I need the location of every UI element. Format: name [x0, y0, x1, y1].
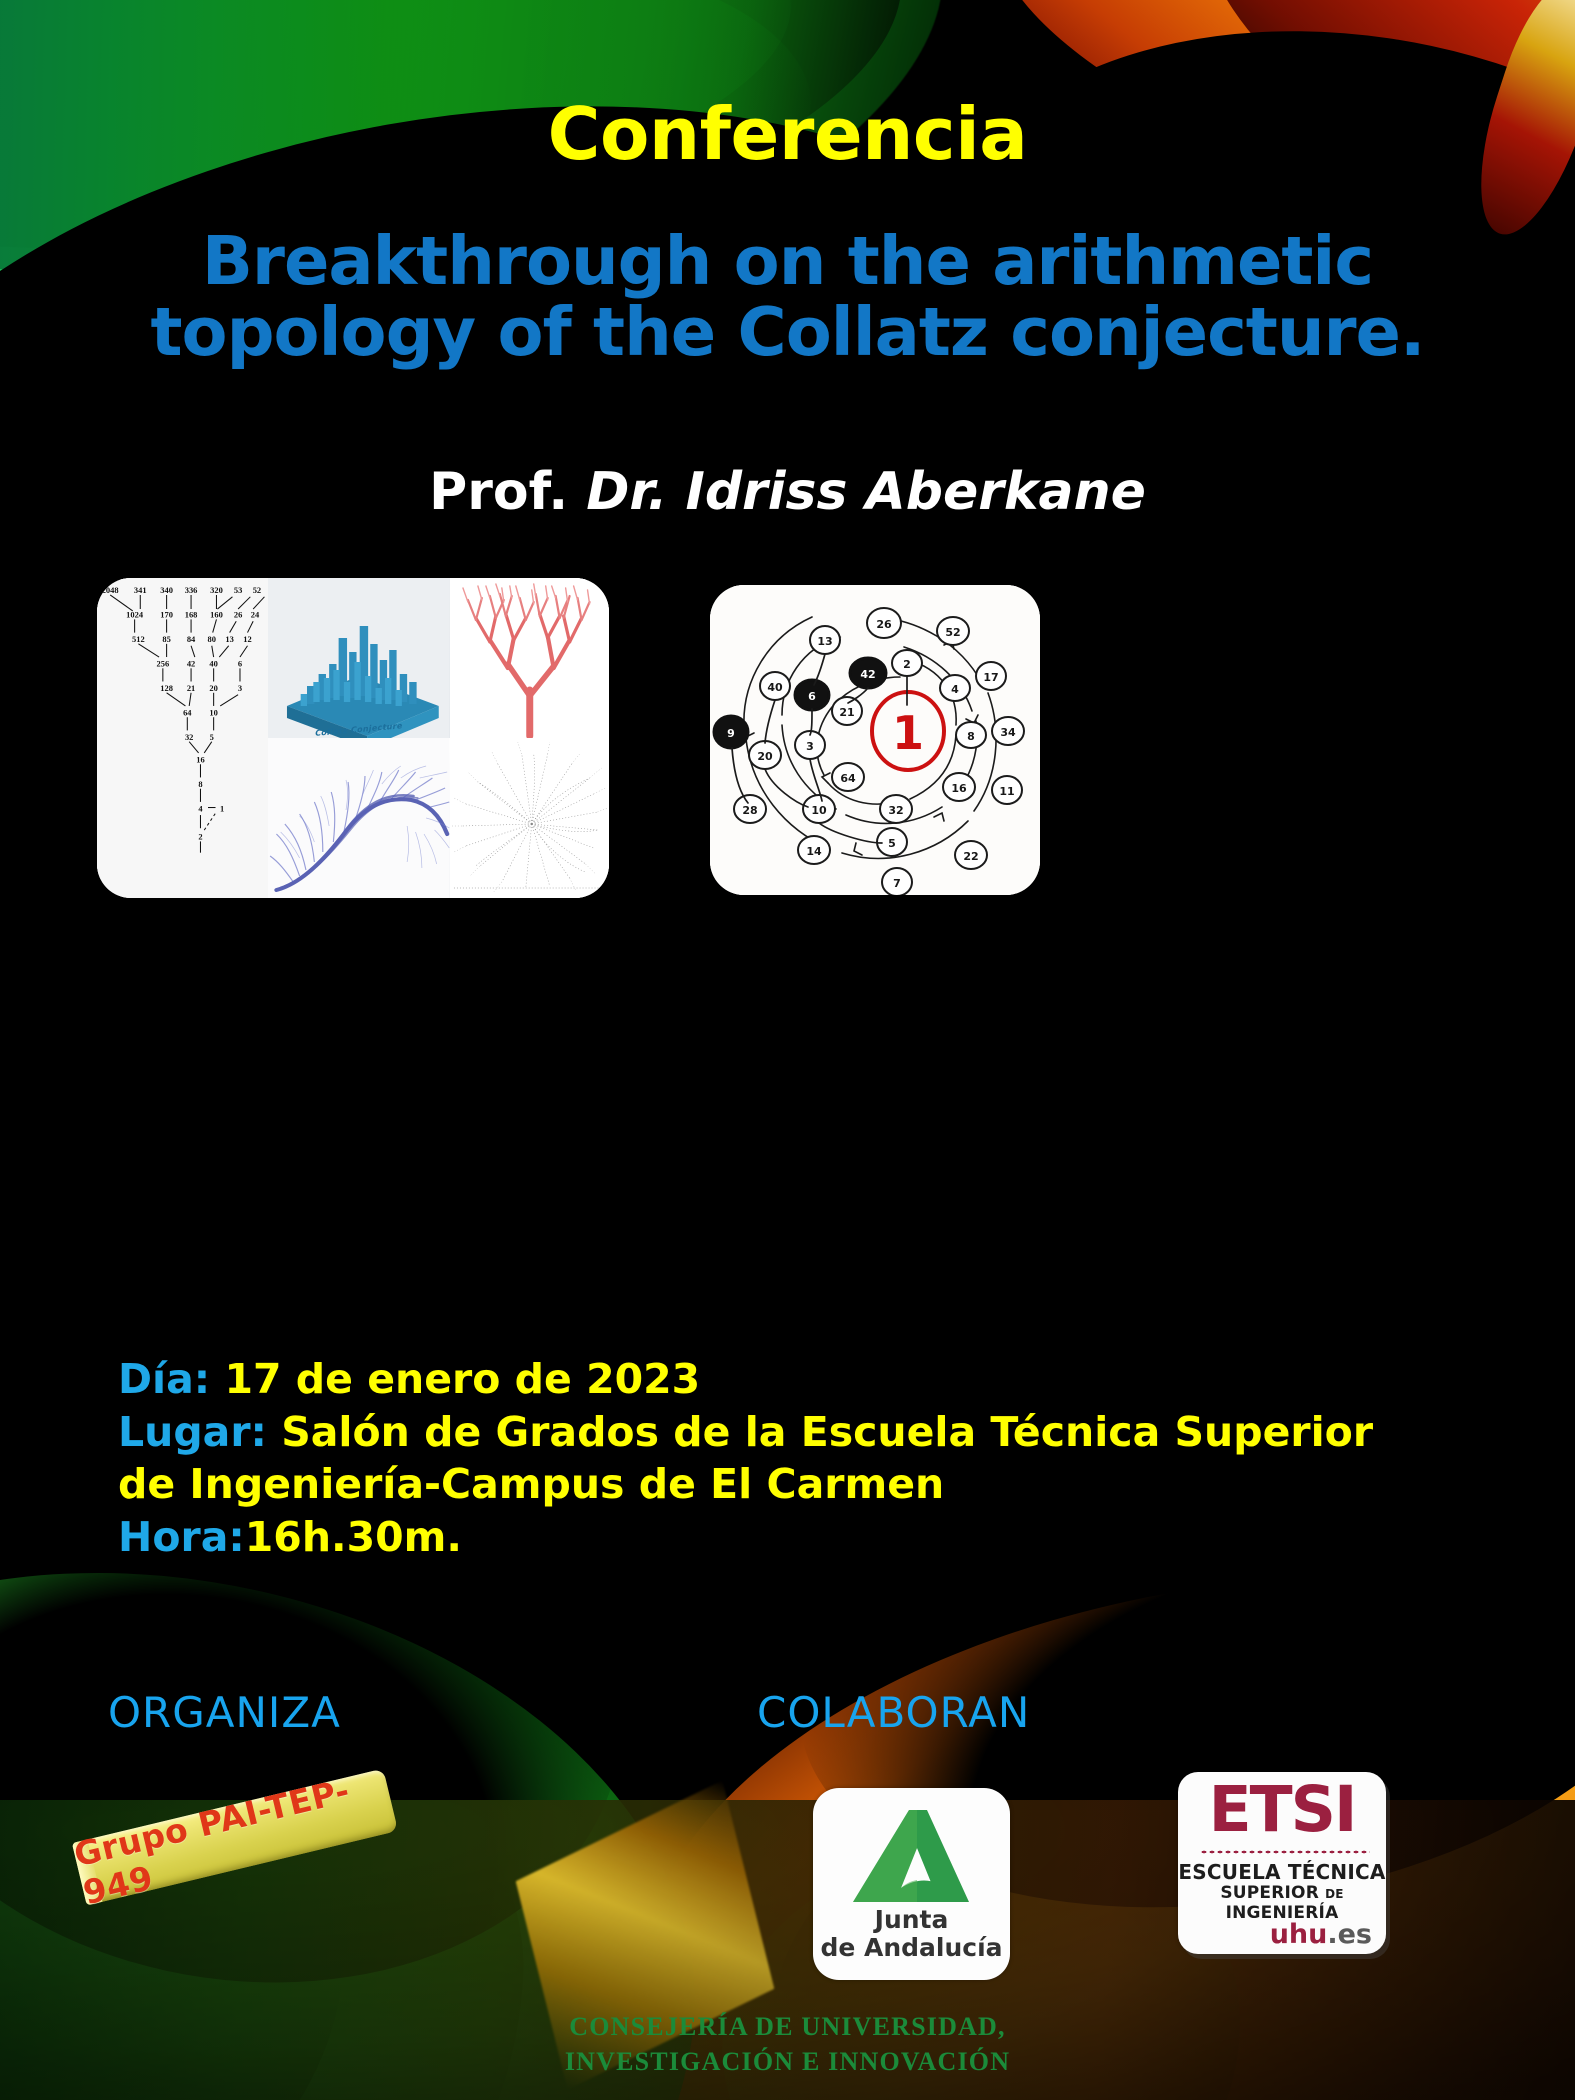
svg-text:3: 3 — [806, 740, 814, 753]
svg-text:20: 20 — [757, 750, 773, 763]
svg-text:341: 341 — [134, 585, 147, 595]
svg-text:7: 7 — [893, 877, 901, 890]
etsi-subtitle-line-1: ESCUELA TÉCNICA — [1178, 1860, 1386, 1884]
day-label: Día: — [118, 1355, 210, 1403]
svg-text:1024: 1024 — [126, 610, 144, 620]
poster-root: Conferencia Breakthrough on the arithmet… — [0, 0, 1575, 2100]
consejeria-line-2: INVESTIGACIÓN E INNOVACIÓN — [0, 2045, 1575, 2080]
detail-line-day: Día: 17 de enero de 2023 — [118, 1353, 1458, 1406]
svg-text:34: 34 — [1000, 726, 1016, 739]
etsi-acronym: ETSI — [1178, 1778, 1386, 1841]
svg-text:32: 32 — [888, 804, 903, 817]
svg-text:40: 40 — [767, 681, 783, 694]
consejeria-line-1: CONSEJERÍA DE UNIVERSIDAD, — [0, 2010, 1575, 2045]
center-node-1: 1 — [892, 706, 924, 760]
svg-text:340: 340 — [160, 585, 173, 595]
place-label: Lugar: — [118, 1408, 267, 1456]
time-value: 16h.30m. — [245, 1513, 462, 1561]
svg-text:8: 8 — [967, 730, 975, 743]
svg-text:2: 2 — [198, 832, 202, 842]
talk-title: Breakthrough on the arithmetic topology … — [0, 226, 1575, 368]
blue-tree-graphic — [268, 738, 449, 898]
talk-title-line-1: Breakthrough on the arithmetic — [0, 226, 1575, 297]
colaboran-label: COLABORAN — [757, 1688, 1030, 1737]
svg-text:17: 17 — [983, 671, 998, 684]
etsi-subtitle-line-2: SUPERIOR DE INGENIERÍA — [1178, 1883, 1386, 1923]
svg-text:5: 5 — [210, 732, 214, 742]
time-label: Hora: — [118, 1513, 245, 1561]
svg-text:42: 42 — [187, 658, 195, 668]
svg-text:24: 24 — [251, 610, 260, 620]
svg-text:11: 11 — [999, 785, 1014, 798]
svg-text:12: 12 — [243, 634, 251, 644]
etsi-logo: ETSI ESCUELA TÉCNICA SUPERIOR DE INGENIE… — [1178, 1772, 1386, 1954]
collatz-collage-card: Collatz Conjecture — [97, 578, 609, 898]
svg-text:336: 336 — [185, 585, 198, 595]
collage-cell-dotted-radial — [450, 738, 609, 898]
svg-text:42: 42 — [860, 668, 875, 681]
svg-text:80: 80 — [208, 634, 216, 644]
svg-text:21: 21 — [187, 683, 195, 693]
svg-text:26: 26 — [876, 618, 892, 631]
event-details: Día: 17 de enero de 2023 Lugar: Salón de… — [118, 1353, 1458, 1564]
svg-text:64: 64 — [183, 707, 192, 717]
svg-text:26: 26 — [234, 610, 242, 620]
svg-text:64: 64 — [840, 772, 856, 785]
place-value-line-2: de Ingeniería-Campus de El Carmen — [118, 1458, 1458, 1511]
svg-text:256: 256 — [157, 658, 170, 668]
svg-text:6: 6 — [238, 658, 242, 668]
svg-text:4: 4 — [951, 683, 959, 696]
junta-line-1: Junta — [813, 1906, 1010, 1934]
etsi-sub2-de: DE — [1325, 1887, 1344, 1901]
uhu-text: uhu — [1270, 1919, 1328, 1950]
svg-text:168: 168 — [185, 610, 198, 620]
junta-line-2: de Andalucía — [813, 1934, 1010, 1962]
svg-text:16: 16 — [951, 782, 967, 795]
svg-text:2048: 2048 — [102, 585, 119, 595]
svg-text:84: 84 — [187, 634, 196, 644]
research-group-text: Grupo PAI-TEP-949 — [72, 1769, 398, 1906]
svg-text:8: 8 — [198, 779, 202, 789]
etsi-sub2-a: SUPERIOR — [1220, 1883, 1325, 1903]
svg-text:320: 320 — [210, 585, 223, 595]
svg-text:52: 52 — [945, 626, 960, 639]
svg-text:21: 21 — [839, 706, 854, 719]
etsi-uhu-url: uhu.es — [1270, 1919, 1372, 1950]
barplot-3d-graphic — [268, 578, 449, 738]
kicker-conferencia: Conferencia — [0, 92, 1575, 176]
svg-text:20: 20 — [209, 683, 217, 693]
collage-cell-collatz-tree: 2048341340 33632053 52 1024170168 160262… — [97, 578, 268, 898]
svg-text:10: 10 — [811, 804, 827, 817]
speaker-name: Prof. Dr. Idriss Aberkane — [0, 462, 1575, 522]
consejeria-text: CONSEJERÍA DE UNIVERSIDAD, INVESTIGACIÓN… — [0, 2010, 1575, 2080]
detail-line-place: Lugar: Salón de Grados de la Escuela Téc… — [118, 1406, 1458, 1459]
svg-text:13: 13 — [225, 634, 233, 644]
collage-cell-blue-tree — [268, 738, 449, 898]
svg-text:28: 28 — [742, 804, 757, 817]
place-value-line-1: Salón de Grados de la Escuela Técnica Su… — [281, 1408, 1373, 1456]
svg-text:13: 13 — [817, 635, 832, 648]
svg-text:85: 85 — [162, 634, 170, 644]
svg-text:5: 5 — [888, 837, 896, 850]
junta-de-andalucia-logo: Junta de Andalucía — [813, 1788, 1010, 1980]
junta-a-mark-icon — [843, 1806, 979, 1910]
dotted-radial-graphic — [450, 738, 609, 898]
svg-text:9: 9 — [727, 727, 735, 740]
etsi-dotted-divider — [1200, 1850, 1370, 1854]
svg-text:128: 128 — [160, 683, 173, 693]
junta-logo-text: Junta de Andalucía — [813, 1906, 1010, 1961]
hand-drawn-collatz-graphic: 1 2 4 8 16 32 64 21 42 — [710, 585, 1040, 895]
svg-text:3: 3 — [238, 683, 242, 693]
svg-text:160: 160 — [210, 610, 223, 620]
speaker-prefix: Prof. — [429, 462, 568, 522]
collage-cell-3d-barplot: Collatz Conjecture — [268, 578, 449, 738]
svg-text:53: 53 — [234, 585, 242, 595]
svg-text:1: 1 — [220, 803, 224, 813]
svg-text:170: 170 — [160, 610, 173, 620]
collatz-circle-card: 1 2 4 8 16 32 64 21 42 — [710, 585, 1040, 895]
svg-text:22: 22 — [963, 850, 978, 863]
red-coral-graphic — [450, 578, 609, 738]
speaker-fullname: Dr. Idriss Aberkane — [586, 462, 1146, 522]
svg-text:6: 6 — [808, 690, 816, 703]
collage-cell-red-coral — [450, 578, 609, 738]
collatz-tree-graphic: 2048341340 33632053 52 1024170168 160262… — [97, 578, 268, 879]
uhu-tld: .es — [1327, 1919, 1372, 1950]
research-group-banner: Grupo PAI-TEP-949 — [72, 1769, 398, 1906]
svg-text:16: 16 — [196, 754, 204, 764]
svg-text:32: 32 — [185, 732, 193, 742]
day-value: 17 de enero de 2023 — [224, 1355, 700, 1403]
organiza-label: ORGANIZA — [108, 1688, 341, 1737]
svg-text:14: 14 — [806, 845, 822, 858]
detail-line-time: Hora:16h.30m. — [118, 1511, 1458, 1564]
svg-text:52: 52 — [253, 585, 261, 595]
svg-text:10: 10 — [209, 707, 217, 717]
talk-title-line-2: topology of the Collatz conjecture. — [0, 297, 1575, 368]
svg-text:512: 512 — [132, 634, 145, 644]
svg-text:2: 2 — [903, 658, 911, 671]
collage-grid: Collatz Conjecture — [97, 578, 609, 898]
svg-text:40: 40 — [209, 658, 217, 668]
